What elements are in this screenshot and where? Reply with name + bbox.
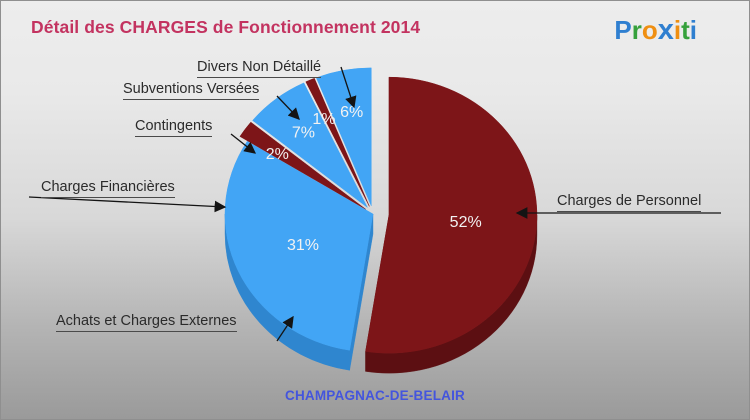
slice-label-subventions-vers-es: 1%: [312, 111, 335, 128]
callout-contingents: Contingents: [135, 118, 212, 137]
callout-achats-charges-externes: Achats et Charges Externes: [56, 313, 237, 332]
chart-canvas: Détail des CHARGES de Fonctionnement 201…: [0, 0, 750, 420]
callout-charges-de-personnel: Charges de Personnel: [557, 193, 701, 212]
callout-charges-financieres: Charges Financières: [41, 179, 175, 198]
slice-label-charges-financi-res: 2%: [266, 146, 289, 163]
slice-label-divers-non-d-taill-: 6%: [340, 104, 363, 121]
callout-divers-non-detaille: Divers Non Détaillé: [197, 59, 321, 78]
slice-label-achats-et-charges-externes: 31%: [287, 237, 319, 254]
callout-subventions-versees: Subventions Versées: [123, 81, 259, 100]
commune-caption: CHAMPAGNAC-DE-BELAIR: [1, 388, 749, 403]
slice-label-charges-de-personnel: 52%: [450, 214, 482, 231]
arrow-charges-financieres: [29, 197, 225, 207]
